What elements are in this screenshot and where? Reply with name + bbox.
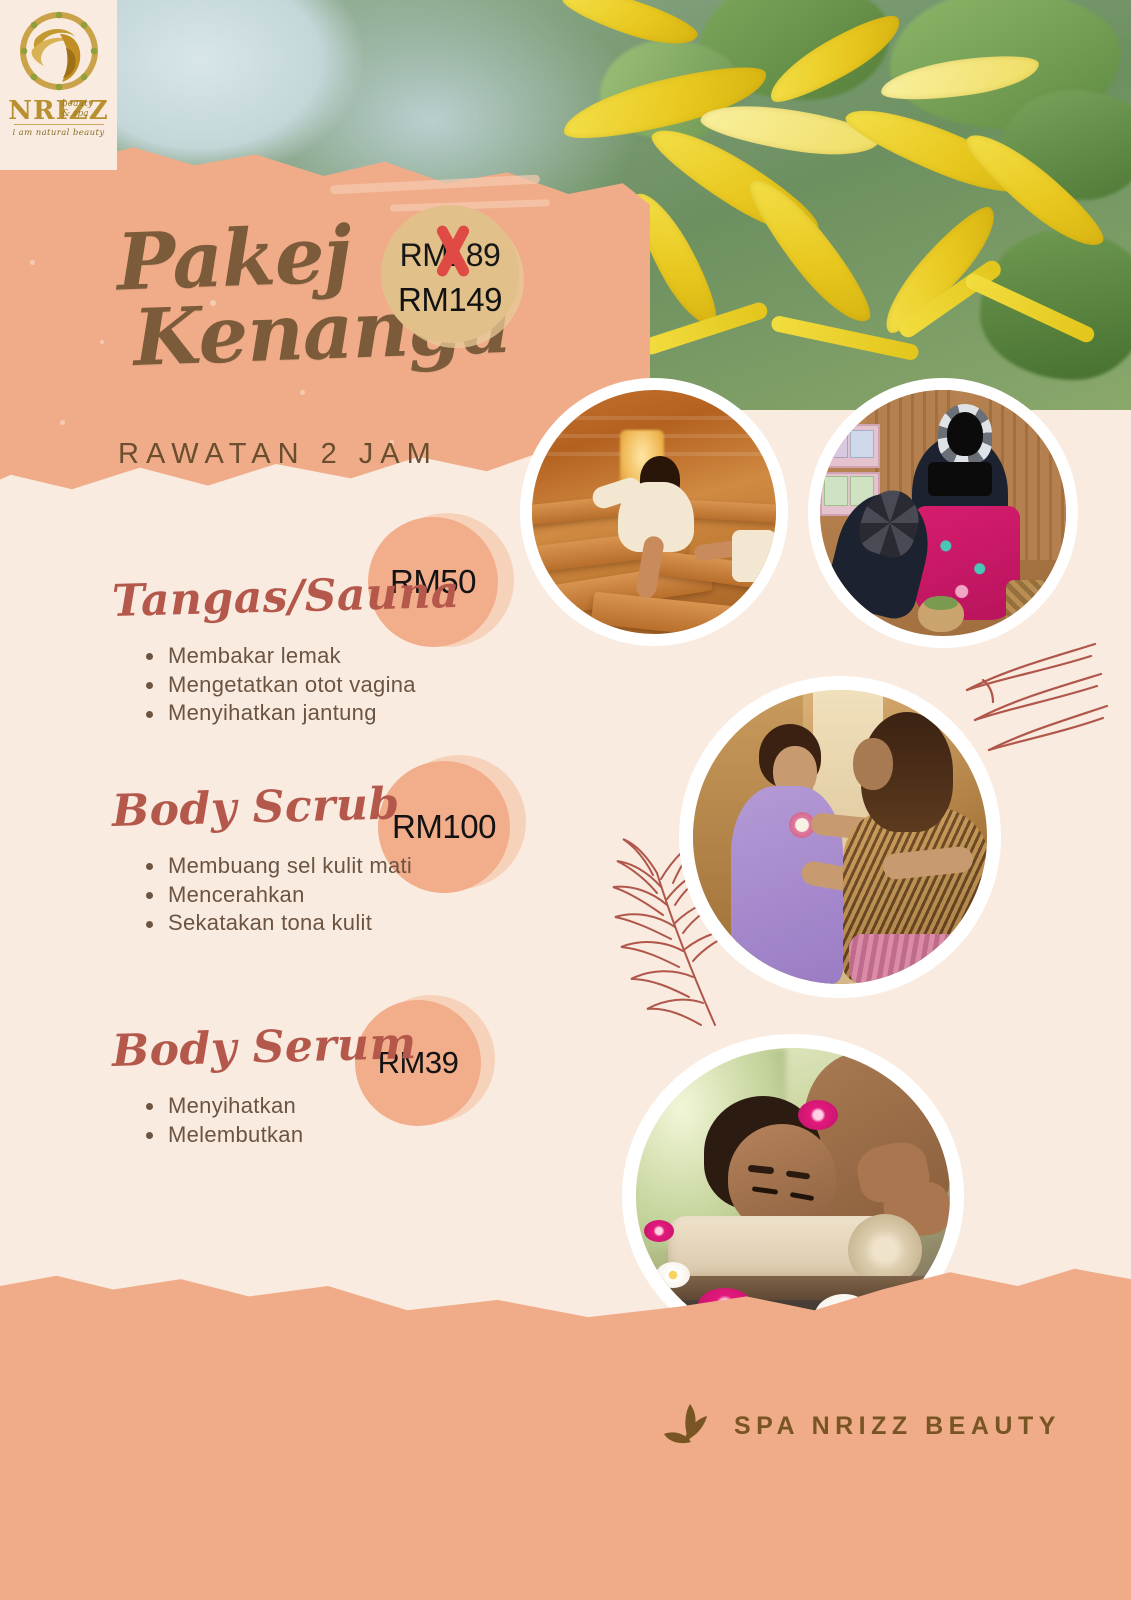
footer-brand: SPA NRIZZ BEAUTY [660, 1400, 1061, 1452]
x-cross-icon [421, 223, 485, 279]
tangas-photo-inner [820, 390, 1066, 636]
price-badge: RM189 RM149 [381, 205, 521, 345]
logo-wordmark: NRIZZ [0, 96, 117, 126]
body-redacted [928, 462, 992, 496]
service-block-serum: Body Serum Menyihatkan Melembutkan [112, 1030, 592, 1149]
frangipani-pink [644, 1220, 674, 1242]
frangipani-white [656, 1262, 690, 1288]
sauna-photo [520, 378, 788, 646]
brush-speck [30, 260, 35, 265]
service-block-tangas: Tangas/Sauna Membakar lemak Mengetatkan … [112, 580, 592, 728]
package-subtitle: RAWATAN 2 JAM [118, 438, 438, 471]
service-block-scrub: Body Scrub Membuang sel kulit mati Mence… [112, 790, 592, 938]
brush-speck [300, 390, 305, 395]
scrub-scene [693, 690, 987, 984]
tangas-photo [808, 378, 1078, 648]
list-item: Menyihatkan jantung [146, 699, 592, 728]
logo-card: NRIZZ beauty & spa i am natural beauty [0, 0, 117, 170]
nrizz-emblem-icon [14, 8, 104, 98]
discounted-price: RM149 [381, 281, 519, 319]
poster-canvas: Pakej Kenanga RAWATAN 2 JAM RM189 RM149 [0, 0, 1131, 1600]
list-item: Sekatakan tona kulit [146, 909, 592, 938]
sauna-photo-inner [532, 390, 776, 634]
service-name-scrub: Body Scrub [111, 777, 592, 834]
tangas-scene [820, 390, 1066, 636]
hair-flower [798, 1100, 838, 1130]
sauna-scene [532, 390, 776, 634]
service-benefits-tangas: Membakar lemak Mengetatkan otot vagina M… [146, 642, 592, 728]
brush-speck [100, 340, 104, 344]
leaf-icon [660, 1400, 712, 1452]
client-wrap [849, 934, 987, 984]
list-item: Membakar lemak [146, 642, 592, 671]
service-benefits-scrub: Membuang sel kulit mati Mencerahkan Seka… [146, 852, 592, 938]
scrub-photo-inner [693, 690, 987, 984]
list-item: Mengetatkan otot vagina [146, 671, 592, 700]
brush-speck [60, 420, 65, 425]
footer-brand-name: SPA NRIZZ BEAUTY [734, 1412, 1061, 1441]
list-item: Menyihatkan [146, 1092, 592, 1121]
logo-subtext: beauty & spa [62, 100, 93, 120]
service-benefits-serum: Menyihatkan Melembutkan [146, 1092, 592, 1149]
list-item: Mencerahkan [146, 881, 592, 910]
list-item: Membuang sel kulit mati [146, 852, 592, 881]
list-item: Melembutkan [146, 1121, 592, 1150]
scrub-photo [679, 676, 1001, 998]
face-redacted [947, 412, 983, 456]
logo-subtext-line2: & spa [62, 110, 93, 120]
logo-tagline: i am natural beauty [0, 128, 117, 138]
service-name-tangas: Tangas/Sauna [111, 567, 592, 624]
service-name-serum: Body Serum [111, 1017, 592, 1074]
